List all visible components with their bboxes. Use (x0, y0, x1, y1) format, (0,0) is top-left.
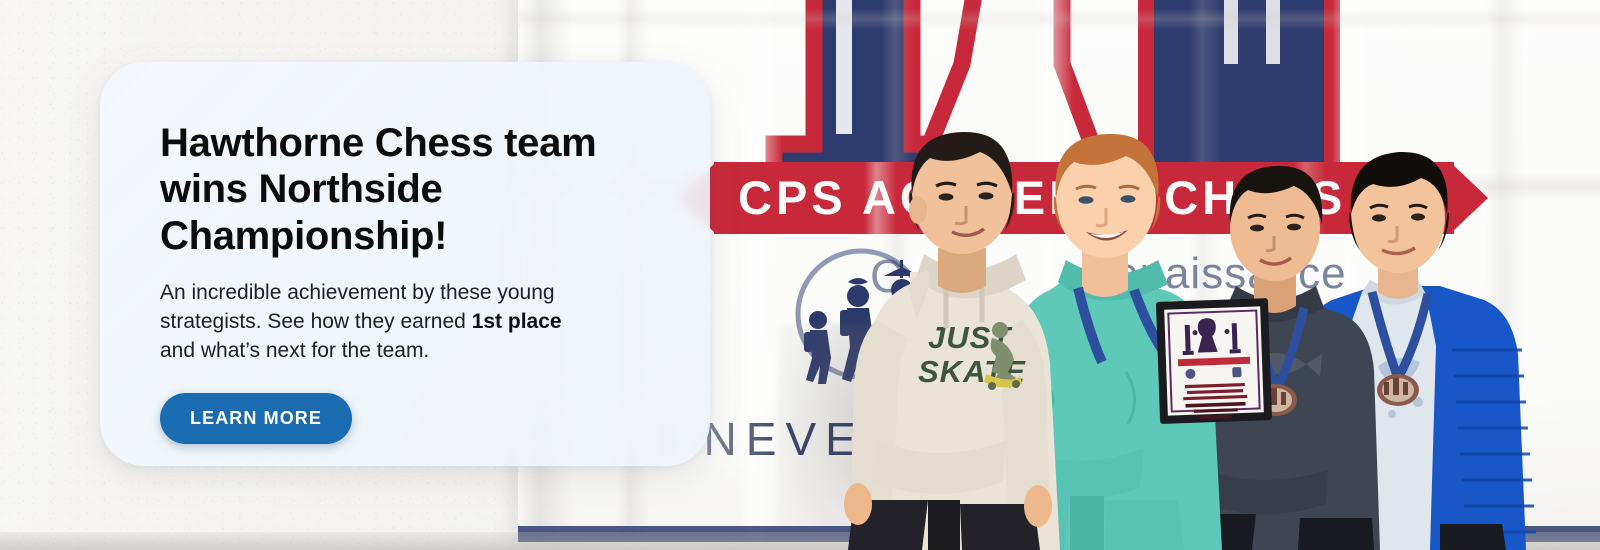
student-one: JUST SKATE (844, 132, 1060, 550)
announcement-description: An incredible achievement by these young… (160, 279, 590, 365)
description-part-two: and what’s next for the team. (160, 339, 429, 362)
announcement-card-content: Hawthorne Chess team wins Northside Cham… (160, 120, 650, 444)
hero-banner: CPS ACADEMIC CHESS (0, 0, 1600, 550)
hoodie-graphic: JUST SKATE (918, 320, 1026, 390)
award-plaque (1156, 298, 1272, 424)
page-title: Hawthorne Chess team wins Northside Cham… (160, 120, 650, 259)
announcement-card: Hawthorne Chess team wins Northside Cham… (100, 62, 710, 466)
description-highlight: 1st place (472, 310, 562, 333)
learn-more-button[interactable]: LEARN MORE (160, 393, 352, 444)
